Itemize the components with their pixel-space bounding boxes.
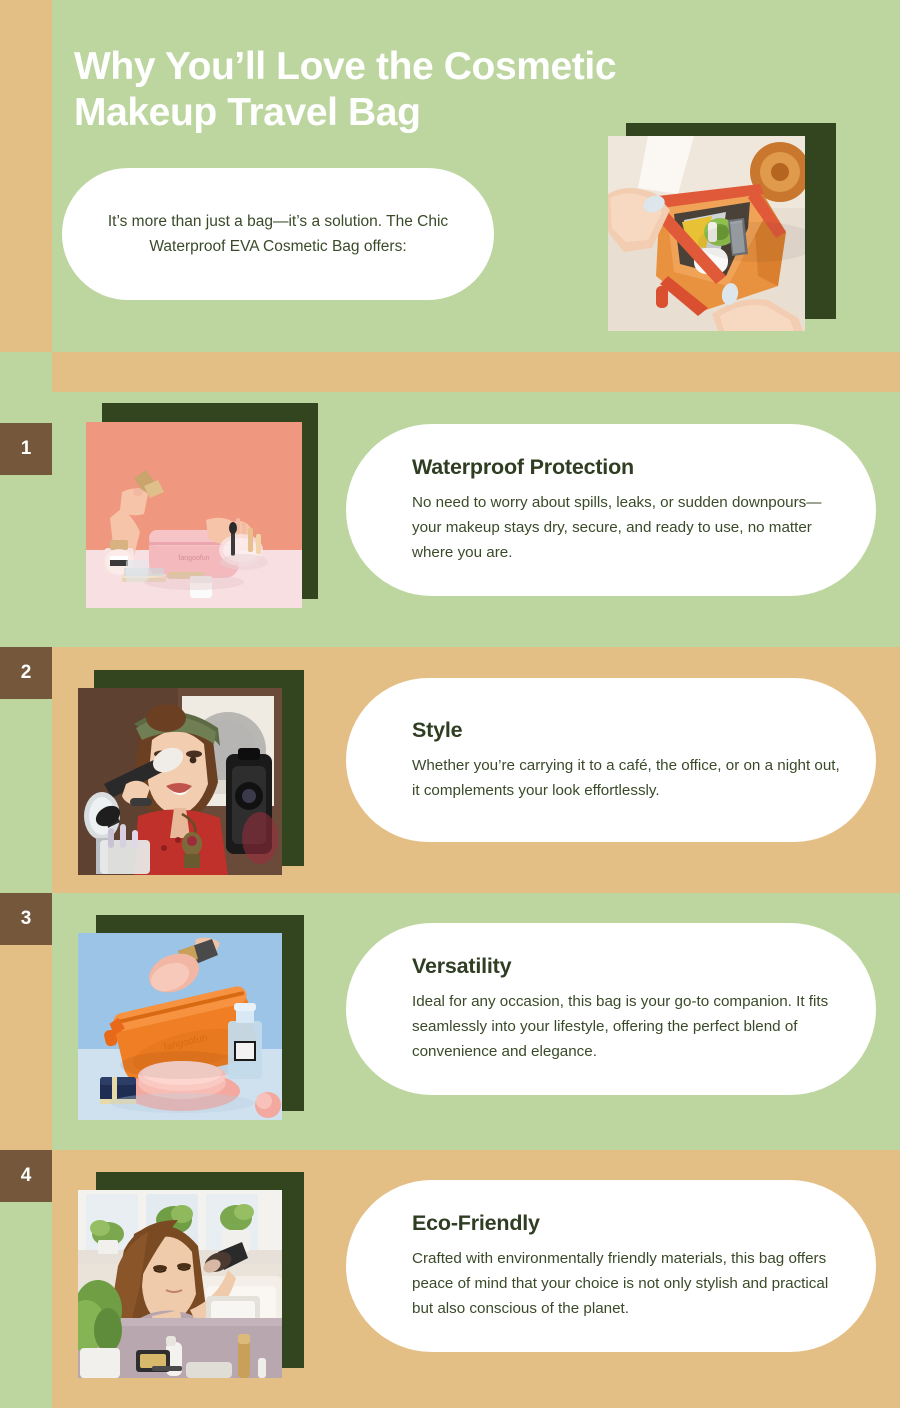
feature-2-card: Style Whether you’re carrying it to a ca… <box>346 678 876 842</box>
feature-3-photo-art: fangoofun <box>78 933 282 1120</box>
feature-1-title: Waterproof Protection <box>412 455 842 480</box>
feature-3-number: 3 <box>21 908 32 930</box>
feature-3-card: Versatility Ideal for any occasion, this… <box>346 923 876 1095</box>
feature-3-number-badge: 3 <box>0 893 52 945</box>
infographic-page: Why You’ll Love the Cosmetic Makeup Trav… <box>0 0 900 1408</box>
feature-3-body: Ideal for any occasion, this bag is your… <box>412 989 842 1064</box>
feature-1-body: No need to worry about spills, leaks, or… <box>412 490 842 565</box>
feature-2-photo-frame <box>78 670 304 875</box>
feature-1-photo: fangoofun <box>86 422 302 608</box>
feature-2-number-badge: 2 <box>0 647 52 699</box>
feature-4-photo-art <box>78 1190 282 1378</box>
header-photo-art <box>608 136 805 331</box>
feature-3-card-inner: Versatility Ideal for any occasion, this… <box>346 954 842 1064</box>
intro-pill: It’s more than just a bag—it’s a solutio… <box>62 168 494 300</box>
page-title-line-1: Why You’ll Love the Cosmetic <box>74 44 834 90</box>
svg-text:fangoofun: fangoofun <box>178 555 209 562</box>
band-divider <box>0 352 900 392</box>
band-header-strip <box>0 0 52 352</box>
feature-1-photo-art: fangoofun <box>86 422 302 608</box>
feature-2-photo-art <box>78 688 282 875</box>
header-photo <box>608 136 805 331</box>
feature-3-title: Versatility <box>412 954 842 979</box>
feature-1-card-inner: Waterproof Protection No need to worry a… <box>346 455 842 565</box>
feature-2-body: Whether you’re carrying it to a café, th… <box>412 753 842 803</box>
feature-2-card-inner: Style Whether you’re carrying it to a ca… <box>346 718 842 803</box>
feature-4-number: 4 <box>21 1165 32 1187</box>
feature-4-title: Eco-Friendly <box>412 1211 842 1236</box>
feature-4-card: Eco-Friendly Crafted with environmentall… <box>346 1180 876 1352</box>
feature-4-photo <box>78 1190 282 1378</box>
feature-4-number-badge: 4 <box>0 1150 52 1202</box>
feature-1-photo-frame: fangoofun <box>86 403 318 608</box>
feature-4-photo-frame <box>78 1172 304 1378</box>
feature-3-photo: fangoofun <box>78 933 282 1120</box>
header-photo-frame <box>608 123 836 331</box>
feature-4-body: Crafted with environmentally friendly ma… <box>412 1246 842 1321</box>
feature-3-photo-frame: fangoofun <box>78 915 304 1120</box>
feature-2-number: 2 <box>21 662 32 684</box>
intro-text: It’s more than just a bag—it’s a solutio… <box>92 209 464 259</box>
feature-2-photo <box>78 688 282 875</box>
feature-1-number: 1 <box>21 438 32 460</box>
feature-1-card: Waterproof Protection No need to worry a… <box>346 424 876 596</box>
feature-1-number-badge: 1 <box>0 423 52 475</box>
feature-2-title: Style <box>412 718 842 743</box>
feature-4-card-inner: Eco-Friendly Crafted with environmentall… <box>346 1211 842 1321</box>
band-divider-field <box>52 352 900 392</box>
band-divider-strip <box>0 352 52 392</box>
